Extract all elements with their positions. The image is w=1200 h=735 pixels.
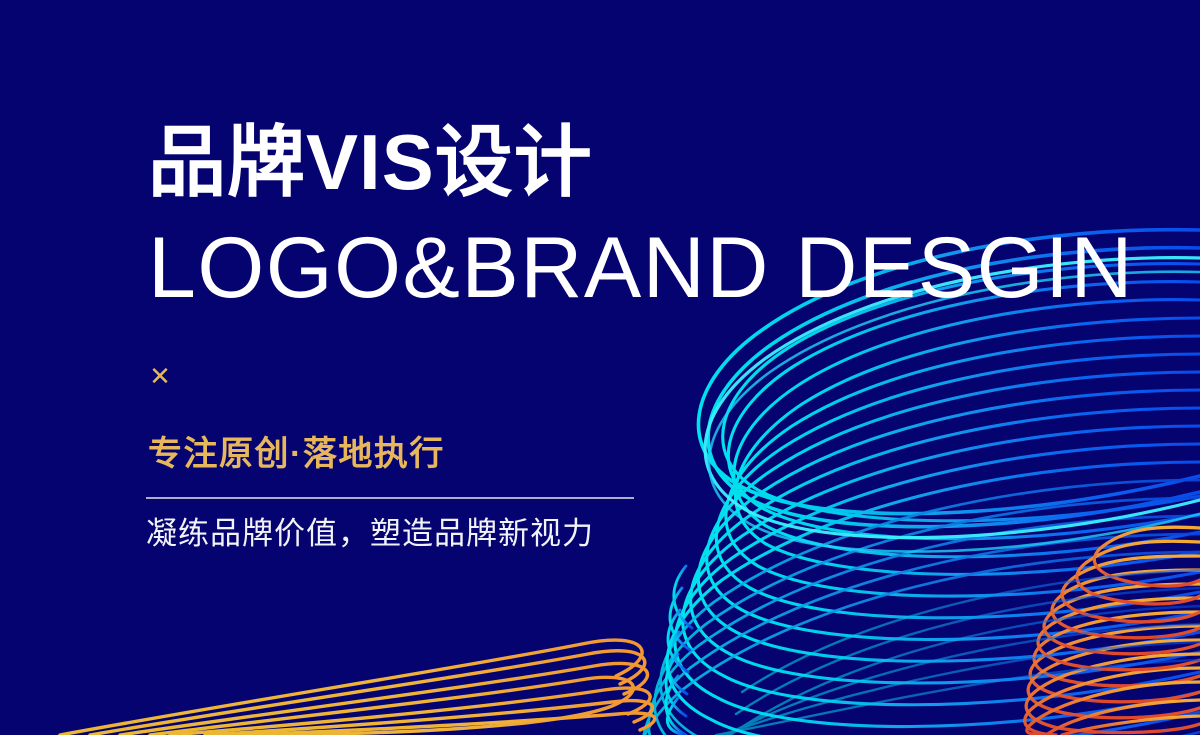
brand-vis-banner: 品牌VIS设计 LOGO&BRAND DESGIN ✕ 专注原创·落地执行 凝练… (0, 0, 1200, 735)
page-title-cn: 品牌VIS设计 (148, 120, 593, 204)
cross-icon: ✕ (146, 362, 174, 390)
subtitle-text: 凝练品牌价值，塑造品牌新视力 (146, 512, 594, 556)
divider-line (146, 497, 634, 499)
slogan-text: 专注原创·落地执行 (148, 432, 445, 476)
page-title-en: LOGO&BRAND DESGIN (148, 222, 1134, 314)
banner-content: 品牌VIS设计 LOGO&BRAND DESGIN ✕ 专注原创·落地执行 凝练… (0, 0, 1200, 735)
